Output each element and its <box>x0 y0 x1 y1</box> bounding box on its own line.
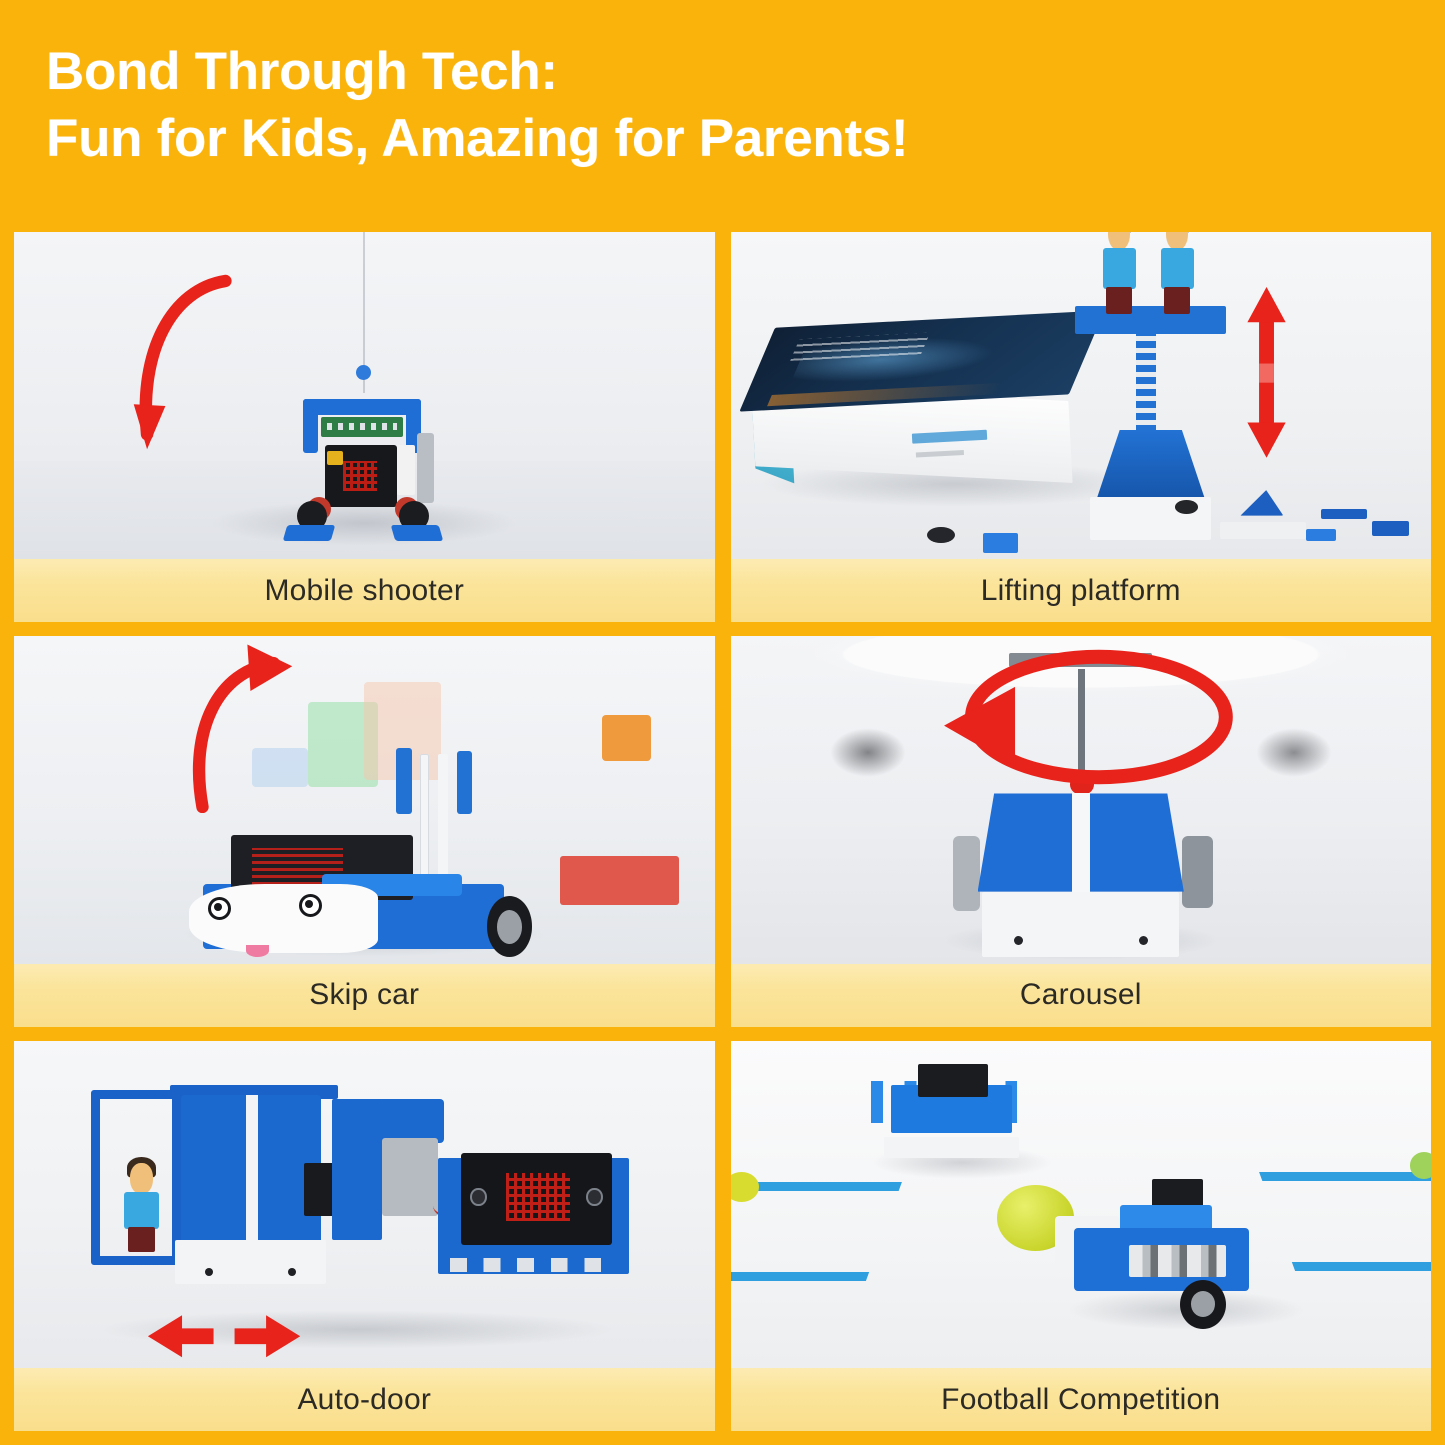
caption-mobile-shooter: Mobile shooter <box>14 559 715 622</box>
microbit-button-b <box>586 1188 603 1206</box>
caption-label: Mobile shooter <box>264 574 464 608</box>
cartoon-face <box>189 884 378 953</box>
robot-striker-car <box>1060 1179 1291 1323</box>
robot-carousel <box>969 793 1193 957</box>
photo-mobile-shooter <box>14 232 715 559</box>
photo-auto-door <box>14 1041 715 1369</box>
curved-down-arrow-icon <box>84 271 280 454</box>
minifigure <box>119 1163 164 1250</box>
auto-door-model <box>91 1080 651 1323</box>
tongue-icon <box>246 945 269 957</box>
panel-football-competition[interactable]: Football Competition <box>731 1041 1432 1431</box>
circular-rotation-arrow-icon <box>857 646 1319 797</box>
robot-goalkeeper <box>871 1064 1039 1163</box>
led-matrix-icon <box>506 1173 570 1221</box>
page-title-line-2: Fun for Kids, Amazing for Parents! <box>46 105 1445 172</box>
product-box <box>748 312 1099 487</box>
product-infographic: Bond Through Tech: Fun for Kids, Amazing… <box>0 0 1445 1445</box>
panel-mobile-shooter[interactable]: Mobile shooter <box>14 232 715 622</box>
curved-up-right-arrow-icon <box>126 643 350 813</box>
green-marker <box>1410 1152 1431 1178</box>
microbit-button-a <box>470 1188 487 1206</box>
feature-grid: Mobile shooter <box>14 232 1431 1431</box>
caption-skip-car: Skip car <box>14 964 715 1027</box>
panel-lifting-platform[interactable]: Lifting platform <box>731 232 1432 622</box>
double-horizontal-arrow-icon <box>133 1310 315 1363</box>
photo-carousel <box>731 636 1432 963</box>
caption-label: Auto-door <box>297 1383 431 1417</box>
caption-label: Lifting platform <box>981 574 1181 608</box>
yellow-marker <box>731 1172 759 1202</box>
photo-football-competition <box>731 1041 1432 1369</box>
eye-left-icon <box>208 897 231 920</box>
caption-carousel: Carousel <box>731 964 1432 1027</box>
photo-skip-car <box>14 636 715 963</box>
scattered-bricks <box>1165 461 1417 546</box>
caption-label: Football Competition <box>941 1383 1220 1417</box>
sliding-door-left <box>181 1095 248 1255</box>
microbit-board <box>461 1153 612 1245</box>
caption-lifting-platform: Lifting platform <box>731 559 1432 622</box>
caption-label: Carousel <box>1020 978 1142 1012</box>
header-banner: Bond Through Tech: Fun for Kids, Amazing… <box>0 0 1445 225</box>
panel-skip-car[interactable]: Skip car <box>14 636 715 1026</box>
photo-lifting-platform <box>731 232 1432 559</box>
caption-football-competition: Football Competition <box>731 1368 1432 1431</box>
panel-carousel[interactable]: Carousel <box>731 636 1432 1026</box>
eye-right-icon <box>299 894 322 917</box>
red-block <box>560 856 679 905</box>
orange-cylinder <box>602 715 651 761</box>
double-vertical-arrow-icon <box>1221 284 1312 461</box>
ball-icon <box>356 365 371 380</box>
robot-mobile-shooter <box>289 393 439 553</box>
caption-auto-door: Auto-door <box>14 1368 715 1431</box>
panel-auto-door[interactable]: Auto-door <box>14 1041 715 1431</box>
minifigure-right <box>1156 232 1199 312</box>
page-title-line-1: Bond Through Tech: <box>46 38 1445 105</box>
minifigure-left <box>1098 232 1141 312</box>
caption-label: Skip car <box>309 978 419 1012</box>
